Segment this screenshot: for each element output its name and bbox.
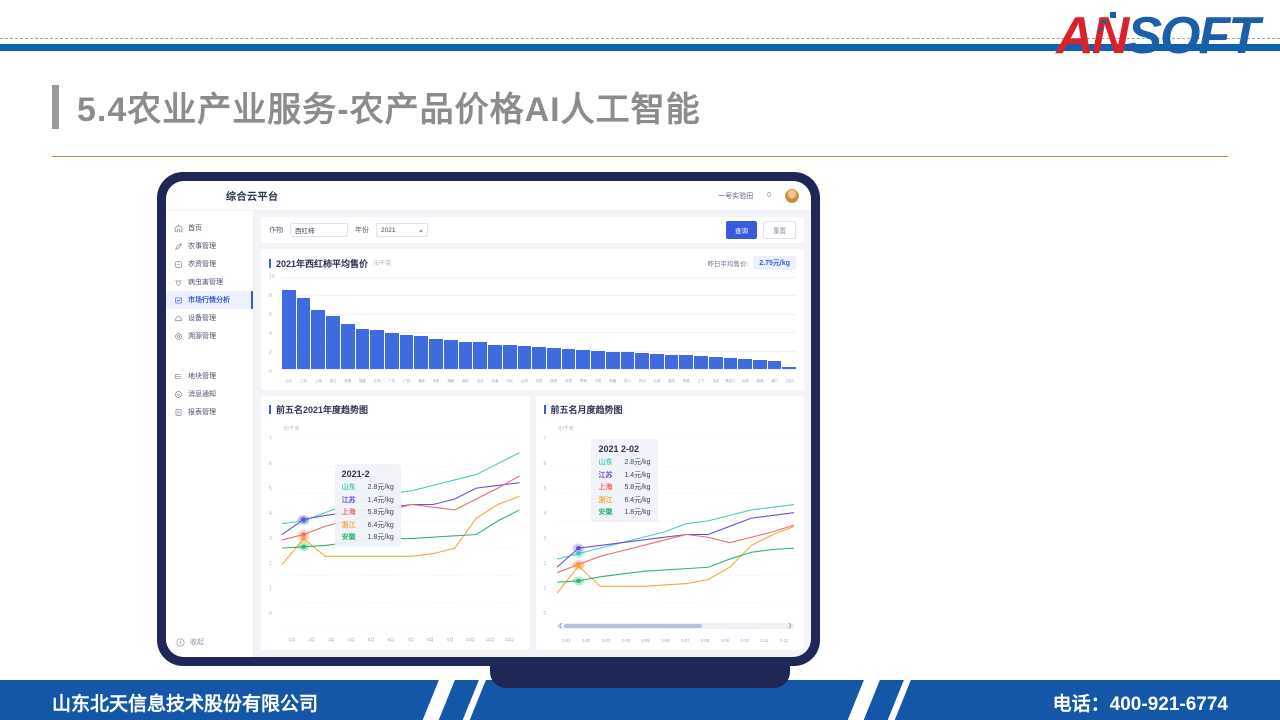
yesterday-price-value: 2.75元/kg bbox=[753, 256, 796, 270]
bar-x-tick: 湖南 bbox=[444, 378, 458, 383]
land-icon bbox=[174, 372, 183, 381]
bar-x-tick: 江苏 bbox=[297, 378, 311, 383]
sidebar-item-6[interactable]: 溯源管理 bbox=[166, 327, 253, 345]
line-x-tick: 2-11 bbox=[754, 638, 774, 643]
sidebar-item-9[interactable]: 报表管理 bbox=[166, 403, 253, 421]
year-filter-label: 年份 bbox=[355, 225, 369, 235]
footer-slash bbox=[458, 680, 489, 720]
tooltip-series-name: 山东 bbox=[342, 482, 356, 492]
avatar[interactable] bbox=[785, 189, 799, 203]
line-x-tick: 2-06 bbox=[655, 638, 675, 643]
tooltip-row: 上海5.8元/kg bbox=[598, 482, 650, 492]
bar-item[interactable] bbox=[311, 310, 325, 369]
bar-x-tick: 山西 bbox=[518, 378, 532, 383]
bar-item[interactable] bbox=[370, 330, 384, 369]
bar-x-tick: 贵州 bbox=[635, 378, 649, 383]
line-x-tick: 2-12 bbox=[774, 638, 794, 643]
bar-series bbox=[282, 277, 796, 369]
sidebar-item-8[interactable]: 消息通知 bbox=[166, 385, 253, 403]
tooltip-series-value: 2.8元/kg bbox=[624, 457, 650, 467]
line-x-tick: 2-07 bbox=[675, 638, 695, 643]
bar-item[interactable] bbox=[282, 290, 296, 369]
title-accent-bar bbox=[52, 85, 59, 129]
bar-y-tick: 4 bbox=[269, 331, 272, 337]
tooltip-row: 江苏1.4元/kg bbox=[342, 495, 394, 505]
search-button[interactable]: 查询 bbox=[726, 221, 757, 239]
sidebar-item-label: 消息通知 bbox=[188, 389, 216, 399]
yearly-trend-unit: 元/千克 bbox=[283, 425, 522, 432]
bar-x-tick: 广西 bbox=[400, 378, 414, 383]
tooltip-series-value: 5.8元/kg bbox=[624, 482, 650, 492]
sidebar-item-3[interactable]: 病虫害管理 bbox=[166, 273, 253, 291]
line-y-tick: 4 bbox=[269, 511, 272, 517]
app-logo-text: 综合云平台 bbox=[226, 188, 279, 203]
notification-count[interactable]: 0 bbox=[767, 192, 771, 199]
bar-item[interactable] bbox=[429, 339, 443, 369]
sidebar-item-label: 首页 bbox=[188, 223, 202, 233]
monthly-trend-card: 前五名月度趋势图 元/千克 01234567 2-012-022-032-042… bbox=[536, 396, 805, 650]
footer-company: 山东北天信息技术股份有限公司 bbox=[52, 689, 318, 716]
line-x-tick: 8月 bbox=[421, 637, 441, 643]
bar-x-tick: 上海 bbox=[311, 378, 325, 383]
page-title: 5.4农业产业服务-农产品价格AI人工智能 bbox=[77, 82, 701, 131]
bar-item[interactable] bbox=[650, 354, 664, 369]
bar-item[interactable] bbox=[724, 358, 738, 369]
line-series-svg bbox=[282, 439, 520, 630]
bar-x-tick: 香港 bbox=[753, 378, 767, 383]
plot-selector[interactable]: 一号实验田 bbox=[718, 191, 753, 201]
bar-chart-plot: 0246810 山东江苏上海浙江安徽福建江西广东广西海南河南湖南湖北北京天津河北… bbox=[269, 273, 796, 383]
bar-item[interactable] bbox=[738, 359, 752, 369]
yearly-x-axis: 1月2月3月4月5月6月7月8月9月10月11月12月 bbox=[282, 637, 520, 643]
line-x-tick: 2-05 bbox=[636, 638, 656, 643]
bar-x-tick: 广东 bbox=[385, 378, 399, 383]
filter-bar: 作物 西红柿 年份 2021 查询 重置 bbox=[261, 217, 804, 243]
app-body: 首页农事管理农资管理病虫害管理市场行情分析设备管理溯源管理地块管理消息通知报表管… bbox=[166, 211, 811, 657]
line-y-tick: 3 bbox=[269, 536, 272, 542]
chevron-up-icon bbox=[419, 229, 423, 232]
main-content: 作物 西红柿 年份 2021 查询 重置 bbox=[254, 211, 811, 657]
tooltip-row: 山东2.8元/kg bbox=[342, 482, 394, 492]
tooltip-series-value: 1.8元/kg bbox=[368, 532, 394, 542]
bar-x-tick: 陕西 bbox=[547, 378, 561, 383]
line-y-tick: 7 bbox=[544, 436, 547, 442]
bar-item[interactable] bbox=[547, 348, 561, 369]
bar-plot-area bbox=[282, 277, 796, 369]
sidebar-item-label: 报表管理 bbox=[188, 407, 216, 417]
bar-x-tick: 澳门 bbox=[768, 378, 782, 383]
bar-item[interactable] bbox=[768, 361, 782, 369]
tooltip-row: 上海5.8元/kg bbox=[342, 507, 394, 517]
line-x-tick: 2-02 bbox=[576, 638, 596, 643]
footer-phone: 电话：400-921-6774 bbox=[1053, 689, 1228, 716]
report-icon bbox=[174, 408, 183, 417]
bell-icon bbox=[174, 390, 183, 399]
market-chart-icon bbox=[174, 296, 183, 305]
bar-x-tick: 福建 bbox=[356, 378, 370, 383]
line-x-tick: 2-09 bbox=[715, 638, 735, 643]
yesterday-price-label: 昨日平均售价: bbox=[707, 258, 748, 268]
bar-item[interactable] bbox=[576, 350, 590, 369]
bar-item[interactable] bbox=[694, 356, 708, 369]
device-frame: 综合云平台 一号实验田 0 首页农事管理农资管理病虫害管理市场行情分析设备管理溯… bbox=[157, 172, 820, 666]
scrollbar-track[interactable] bbox=[564, 624, 788, 628]
year-select[interactable]: 2021 bbox=[376, 223, 428, 237]
tooltip-series-name: 浙江 bbox=[598, 495, 612, 505]
bar-item[interactable] bbox=[297, 298, 311, 369]
bar-x-tick: 安徽 bbox=[341, 378, 355, 383]
bar-item[interactable] bbox=[621, 352, 635, 369]
line-x-tick: 1月 bbox=[282, 637, 302, 643]
line-y-tick: 1 bbox=[544, 586, 547, 592]
sidebar-group-gap bbox=[166, 345, 253, 367]
bar-item[interactable] bbox=[488, 345, 502, 369]
line-x-tick: 5月 bbox=[361, 637, 381, 643]
line-y-tick: 2 bbox=[544, 561, 547, 567]
bar-item[interactable] bbox=[782, 367, 796, 369]
line-x-tick: 2-08 bbox=[695, 638, 715, 643]
tooltip-title: 2021 2-02 bbox=[598, 444, 650, 454]
crop-filter-label: 作物 bbox=[269, 225, 283, 235]
tooltip-series-name: 山东 bbox=[598, 457, 612, 467]
avg-price-bar-card: 2021年西红柿平均售价 元/千克 昨日平均售价: 2.75元/kg 02468… bbox=[261, 249, 804, 390]
sidebar-item-1[interactable]: 农事管理 bbox=[166, 237, 253, 255]
sidebar-item-label: 市场行情分析 bbox=[188, 295, 230, 305]
tooltip-series-value: 2.8元/kg bbox=[368, 482, 394, 492]
bar-x-tick: 重庆 bbox=[665, 378, 679, 383]
app-window: 综合云平台 一号实验田 0 首页农事管理农资管理病虫害管理市场行情分析设备管理溯… bbox=[166, 181, 811, 657]
sidebar-item-0[interactable]: 首页 bbox=[166, 219, 253, 237]
tooltip-series-value: 1.4元/kg bbox=[624, 470, 650, 480]
tooltip-series-name: 安徽 bbox=[598, 507, 612, 517]
line-y-tick: 7 bbox=[269, 436, 272, 442]
tooltip-row: 安徽1.8元/kg bbox=[342, 532, 394, 542]
tooltip-series-name: 上海 bbox=[342, 507, 356, 517]
sidebar-collapse-label: 收起 bbox=[190, 637, 204, 647]
sidebar-item-label: 地块管理 bbox=[188, 371, 216, 381]
line-y-tick: 4 bbox=[544, 511, 547, 517]
bar-x-tick: 江苏2 bbox=[782, 378, 796, 383]
line-x-tick: 2月 bbox=[302, 637, 322, 643]
sidebar-item-7[interactable]: 地块管理 bbox=[166, 367, 253, 385]
sidebar-item-label: 设备管理 bbox=[188, 313, 216, 323]
bar-item[interactable] bbox=[473, 342, 487, 369]
bar-x-tick: 四川 bbox=[621, 378, 635, 383]
monthly-card-header: 前五名月度趋势图 bbox=[544, 403, 797, 416]
tooltip-series-value: 6.4元/kg bbox=[624, 495, 650, 505]
sidebar-item-label: 农事管理 bbox=[188, 241, 216, 251]
tooltip-series-value: 1.4元/kg bbox=[368, 495, 394, 505]
monthly-trend-unit: 元/千克 bbox=[558, 425, 797, 432]
monthly-tooltip: 2021 2-02山东2.8元/kg江苏1.4元/kg上海5.8元/kg浙江6.… bbox=[591, 439, 657, 522]
line-x-tick: 10月 bbox=[460, 637, 480, 643]
bar-item[interactable] bbox=[709, 357, 723, 369]
bar-item[interactable] bbox=[444, 340, 458, 369]
tooltip-series-value: 5.8元/kg bbox=[368, 507, 394, 517]
bar-x-tick: 辽宁 bbox=[694, 378, 708, 383]
line-x-tick: 2-04 bbox=[616, 638, 636, 643]
scrollbar-thumb[interactable] bbox=[564, 624, 703, 628]
bar-x-tick: 内蒙 bbox=[532, 378, 546, 383]
bar-y-tick: 0 bbox=[269, 369, 272, 375]
footer-slash bbox=[843, 680, 883, 720]
logo-soft-text: SOFT bbox=[1127, 6, 1258, 66]
bar-x-tick: 西藏 bbox=[679, 378, 693, 383]
bar-x-tick: 湖北 bbox=[459, 378, 473, 383]
home-icon bbox=[174, 224, 183, 233]
bar-item[interactable] bbox=[341, 324, 355, 369]
line-y-tick: 5 bbox=[544, 486, 547, 492]
pest-icon bbox=[174, 278, 183, 287]
yesterday-price-block: 昨日平均售价: 2.75元/kg bbox=[707, 256, 796, 270]
bar-x-tick: 天津 bbox=[488, 378, 502, 383]
trace-icon bbox=[174, 332, 183, 341]
year-select-value: 2021 bbox=[381, 227, 395, 234]
tooltip-row: 安徽1.8元/kg bbox=[598, 507, 650, 517]
filter-actions: 查询 重置 bbox=[726, 221, 796, 239]
device-bottom-notch bbox=[490, 666, 790, 688]
line-x-tick: 6月 bbox=[381, 637, 401, 643]
line-x-tick: 11月 bbox=[480, 637, 500, 643]
monthly-trend-plot: 01234567 2-012-022-032-042-052-062-072-0… bbox=[544, 435, 797, 643]
yearly-plot-area bbox=[282, 439, 520, 630]
tooltip-series-name: 江苏 bbox=[342, 495, 356, 505]
bar-y-tick: 8 bbox=[269, 293, 272, 299]
crop-input[interactable]: 西红柿 bbox=[290, 223, 348, 237]
tooltip-series-value: 6.4元/kg bbox=[368, 520, 394, 530]
tooltip-title: 2021-2 bbox=[342, 469, 394, 479]
tooltip-row: 浙江6.4元/kg bbox=[598, 495, 650, 505]
bar-item[interactable] bbox=[356, 329, 370, 369]
tooltip-row: 江苏1.4元/kg bbox=[598, 470, 650, 480]
monthly-trend-title: 前五名月度趋势图 bbox=[551, 403, 623, 416]
bar-x-tick: 吉林 bbox=[709, 378, 723, 383]
card-accent-tick bbox=[269, 405, 271, 414]
bar-item[interactable] bbox=[606, 352, 620, 369]
line-x-tick: 2-03 bbox=[596, 638, 616, 643]
sidebar-item-label: 农资管理 bbox=[188, 259, 216, 269]
bar-chart-x-axis: 山东江苏上海浙江安徽福建江西广东广西海南河南湖南湖北北京天津河北山西内蒙陕西甘肃… bbox=[282, 378, 796, 383]
yearly-trend-title: 前五名2021年度趋势图 bbox=[276, 403, 368, 416]
yearly-trend-card: 前五名2021年度趋势图 元/千克 01234567 1月2月3月4月5月6月7… bbox=[261, 396, 530, 650]
tooltip-row: 山东2.8元/kg bbox=[598, 457, 650, 467]
bar-x-tick: 北京 bbox=[473, 378, 487, 383]
line-y-tick: 2 bbox=[269, 561, 272, 567]
app-header-right: 一号实验田 0 bbox=[718, 189, 799, 203]
line-y-tick: 3 bbox=[544, 536, 547, 542]
bar-x-tick: 黑龙江 bbox=[724, 378, 738, 383]
bar-x-tick: 河南 bbox=[429, 378, 443, 383]
bar-card-header: 2021年西红柿平均售价 元/千克 昨日平均售价: 2.75元/kg bbox=[269, 256, 796, 270]
bar-gridline bbox=[282, 369, 796, 370]
bar-item[interactable] bbox=[635, 353, 649, 369]
bar-x-tick: 新疆 bbox=[606, 378, 620, 383]
bar-y-tick: 6 bbox=[269, 312, 272, 318]
sidebar-item-label: 溯源管理 bbox=[188, 331, 216, 341]
bar-item[interactable] bbox=[532, 347, 546, 369]
farming-icon bbox=[174, 242, 183, 251]
title-underline bbox=[52, 156, 1228, 157]
yearly-tooltip: 2021-2山东2.8元/kg江苏1.4元/kg上海5.8元/kg浙江6.4元/… bbox=[335, 464, 401, 547]
bar-chart-unit: 元/千克 bbox=[373, 259, 391, 267]
line-x-tick: 7月 bbox=[401, 637, 421, 643]
line-x-tick: 2-01 bbox=[557, 638, 577, 643]
tooltip-series-name: 安徽 bbox=[342, 532, 356, 542]
bar-item[interactable] bbox=[459, 342, 473, 369]
line-y-tick: 5 bbox=[269, 486, 272, 492]
footer-slash bbox=[883, 680, 914, 720]
page-title-row: 5.4农业产业服务-农产品价格AI人工智能 bbox=[52, 82, 701, 131]
line-x-tick: 3月 bbox=[322, 637, 342, 643]
sidebar-item-label: 病虫害管理 bbox=[188, 277, 223, 287]
line-y-tick: 0 bbox=[544, 611, 547, 617]
tooltip-series-name: 上海 bbox=[598, 482, 612, 492]
device-icon bbox=[174, 314, 183, 323]
bar-x-tick: 青海 bbox=[576, 378, 590, 383]
line-x-tick: 4月 bbox=[341, 637, 361, 643]
sidebar: 首页农事管理农资管理病虫害管理市场行情分析设备管理溯源管理地块管理消息通知报表管… bbox=[166, 211, 254, 657]
tooltip-row: 浙江6.4元/kg bbox=[342, 520, 394, 530]
bar-x-tick: 海南 bbox=[414, 378, 428, 383]
bar-x-tick: 云南 bbox=[650, 378, 664, 383]
line-y-tick: 6 bbox=[269, 461, 272, 467]
slide-root: AN SOFT 5.4农业产业服务-农产品价格AI人工智能 综合云平台 一号实验… bbox=[0, 0, 1280, 720]
bar-y-tick: 10 bbox=[269, 274, 275, 280]
trend-charts-row: 前五名2021年度趋势图 元/千克 01234567 1月2月3月4月5月6月7… bbox=[261, 396, 804, 650]
line-x-tick: 2-10 bbox=[735, 638, 755, 643]
bar-x-tick: 宁夏 bbox=[591, 378, 605, 383]
bar-chart-title: 2021年西红柿平均售价 bbox=[276, 257, 368, 270]
bar-x-tick: 浙江 bbox=[326, 378, 340, 383]
line-y-tick: 0 bbox=[269, 611, 272, 617]
sidebar-collapse-button[interactable]: 收起 bbox=[166, 631, 253, 657]
card-accent-tick bbox=[269, 259, 271, 268]
tooltip-series-name: 江苏 bbox=[598, 470, 612, 480]
tooltip-series-value: 1.8元/kg bbox=[624, 507, 650, 517]
monthly-chart-scrollbar[interactable]: ❮ ❯ bbox=[557, 623, 795, 629]
line-y-tick: 6 bbox=[544, 461, 547, 467]
sidebar-item-4[interactable]: 市场行情分析 bbox=[166, 291, 253, 309]
bar-x-tick: 甘肃 bbox=[562, 378, 576, 383]
line-x-tick: 9月 bbox=[440, 637, 460, 643]
yearly-trend-plot: 01234567 1月2月3月4月5月6月7月8月9月10月11月12月 202… bbox=[269, 435, 522, 643]
logo-an-text: AN bbox=[1056, 6, 1127, 66]
bar-item[interactable] bbox=[753, 360, 767, 369]
sidebar-item-5[interactable]: 设备管理 bbox=[166, 309, 253, 327]
line-x-tick: 12月 bbox=[500, 637, 520, 643]
bar-x-tick: 山东 bbox=[282, 378, 296, 383]
app-header: 综合云平台 一号实验田 0 bbox=[166, 181, 811, 211]
yearly-card-header: 前五名2021年度趋势图 bbox=[269, 403, 522, 416]
bar-item[interactable] bbox=[591, 351, 605, 369]
bar-item[interactable] bbox=[414, 336, 428, 369]
bar-item[interactable] bbox=[562, 349, 576, 369]
bar-item[interactable] bbox=[518, 346, 532, 369]
ansoft-logo: AN SOFT bbox=[1056, 8, 1258, 64]
bar-item[interactable] bbox=[326, 316, 340, 369]
tooltip-series-name: 浙江 bbox=[342, 520, 356, 530]
collapse-left-icon bbox=[176, 638, 185, 647]
reset-button[interactable]: 重置 bbox=[763, 221, 796, 239]
line-y-tick: 1 bbox=[269, 586, 272, 592]
scroll-right-icon[interactable]: ❯ bbox=[787, 623, 793, 629]
monthly-x-axis: 2-012-022-032-042-052-062-072-082-092-10… bbox=[557, 638, 795, 643]
bar-item[interactable] bbox=[385, 333, 399, 369]
sidebar-nav-list: 首页农事管理农资管理病虫害管理市场行情分析设备管理溯源管理地块管理消息通知报表管… bbox=[166, 219, 253, 421]
bar-item[interactable] bbox=[665, 355, 679, 369]
bar-x-tick: 河北 bbox=[503, 378, 517, 383]
bar-x-tick: 江西 bbox=[370, 378, 384, 383]
bar-x-tick: 台湾 bbox=[738, 378, 752, 383]
card-accent-tick bbox=[544, 405, 546, 414]
bar-item[interactable] bbox=[400, 335, 414, 369]
sidebar-item-2[interactable]: 农资管理 bbox=[166, 255, 253, 273]
footer-slash bbox=[418, 680, 458, 720]
bar-item[interactable] bbox=[503, 345, 517, 369]
bar-y-tick: 2 bbox=[269, 350, 272, 356]
supplies-icon bbox=[174, 260, 183, 269]
bar-item[interactable] bbox=[679, 355, 693, 369]
